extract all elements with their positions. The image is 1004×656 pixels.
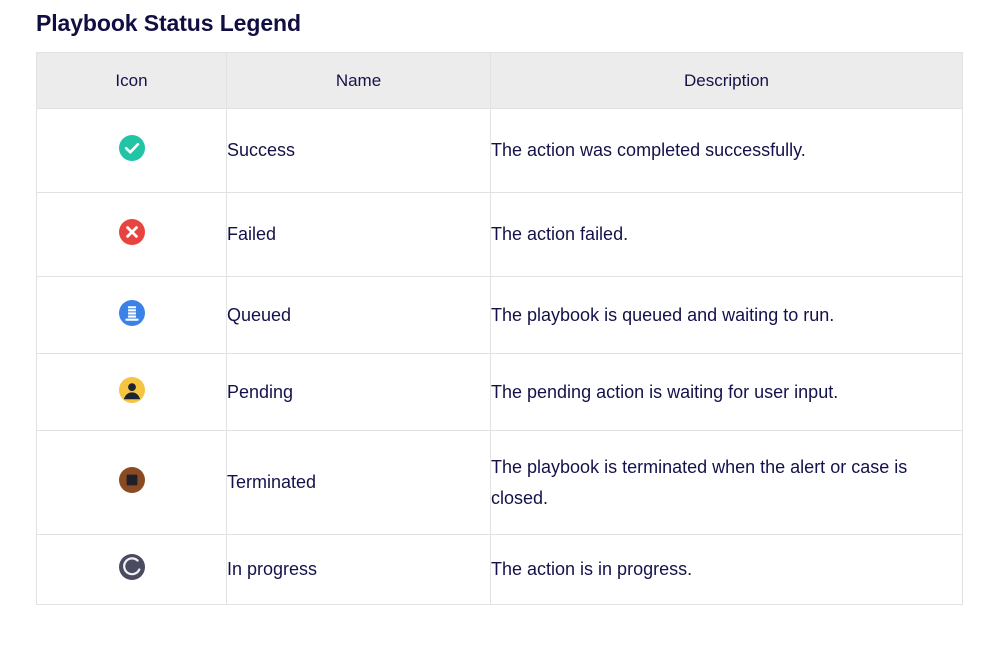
status-description-cell: The action failed. (491, 193, 963, 277)
status-icon-cell (37, 193, 227, 277)
status-name-cell: Pending (227, 354, 491, 431)
table-row: Terminated The playbook is terminated wh… (37, 431, 963, 535)
pending-user-icon (117, 375, 147, 405)
playbook-status-legend-table: Icon Name Description Success The action (36, 52, 963, 605)
table-row: In progress The action is in progress. (37, 535, 963, 605)
table-body: Success The action was completed success… (37, 109, 963, 605)
column-header-name: Name (227, 53, 491, 109)
status-icon-cell (37, 109, 227, 193)
table-header: Icon Name Description (37, 53, 963, 109)
status-icon-cell (37, 277, 227, 354)
status-name-cell: Queued (227, 277, 491, 354)
table-row: Failed The action failed. (37, 193, 963, 277)
status-description-cell: The pending action is waiting for user i… (491, 354, 963, 431)
status-name-cell: Terminated (227, 431, 491, 535)
status-icon-cell (37, 535, 227, 605)
status-description-cell: The playbook is queued and waiting to ru… (491, 277, 963, 354)
status-description-cell: The playbook is terminated when the aler… (491, 431, 963, 535)
table-row: Queued The playbook is queued and waitin… (37, 277, 963, 354)
status-name-cell: Success (227, 109, 491, 193)
table-row: Success The action was completed success… (37, 109, 963, 193)
status-description-cell: The action is in progress. (491, 535, 963, 605)
table-header-row: Icon Name Description (37, 53, 963, 109)
column-header-description: Description (491, 53, 963, 109)
page-title: Playbook Status Legend (36, 0, 968, 37)
success-check-icon (117, 133, 147, 163)
status-name-cell: In progress (227, 535, 491, 605)
terminated-stop-icon (117, 465, 147, 495)
status-name-cell: Failed (227, 193, 491, 277)
status-icon-cell (37, 354, 227, 431)
table-row: Pending The pending action is waiting fo… (37, 354, 963, 431)
in-progress-spinner-icon (117, 552, 147, 582)
failed-cross-icon (117, 217, 147, 247)
queued-stack-icon (117, 298, 147, 328)
status-icon-cell (37, 431, 227, 535)
page-container: Playbook Status Legend Icon Name Descrip… (0, 0, 1004, 605)
status-description-cell: The action was completed successfully. (491, 109, 963, 193)
column-header-icon: Icon (37, 53, 227, 109)
